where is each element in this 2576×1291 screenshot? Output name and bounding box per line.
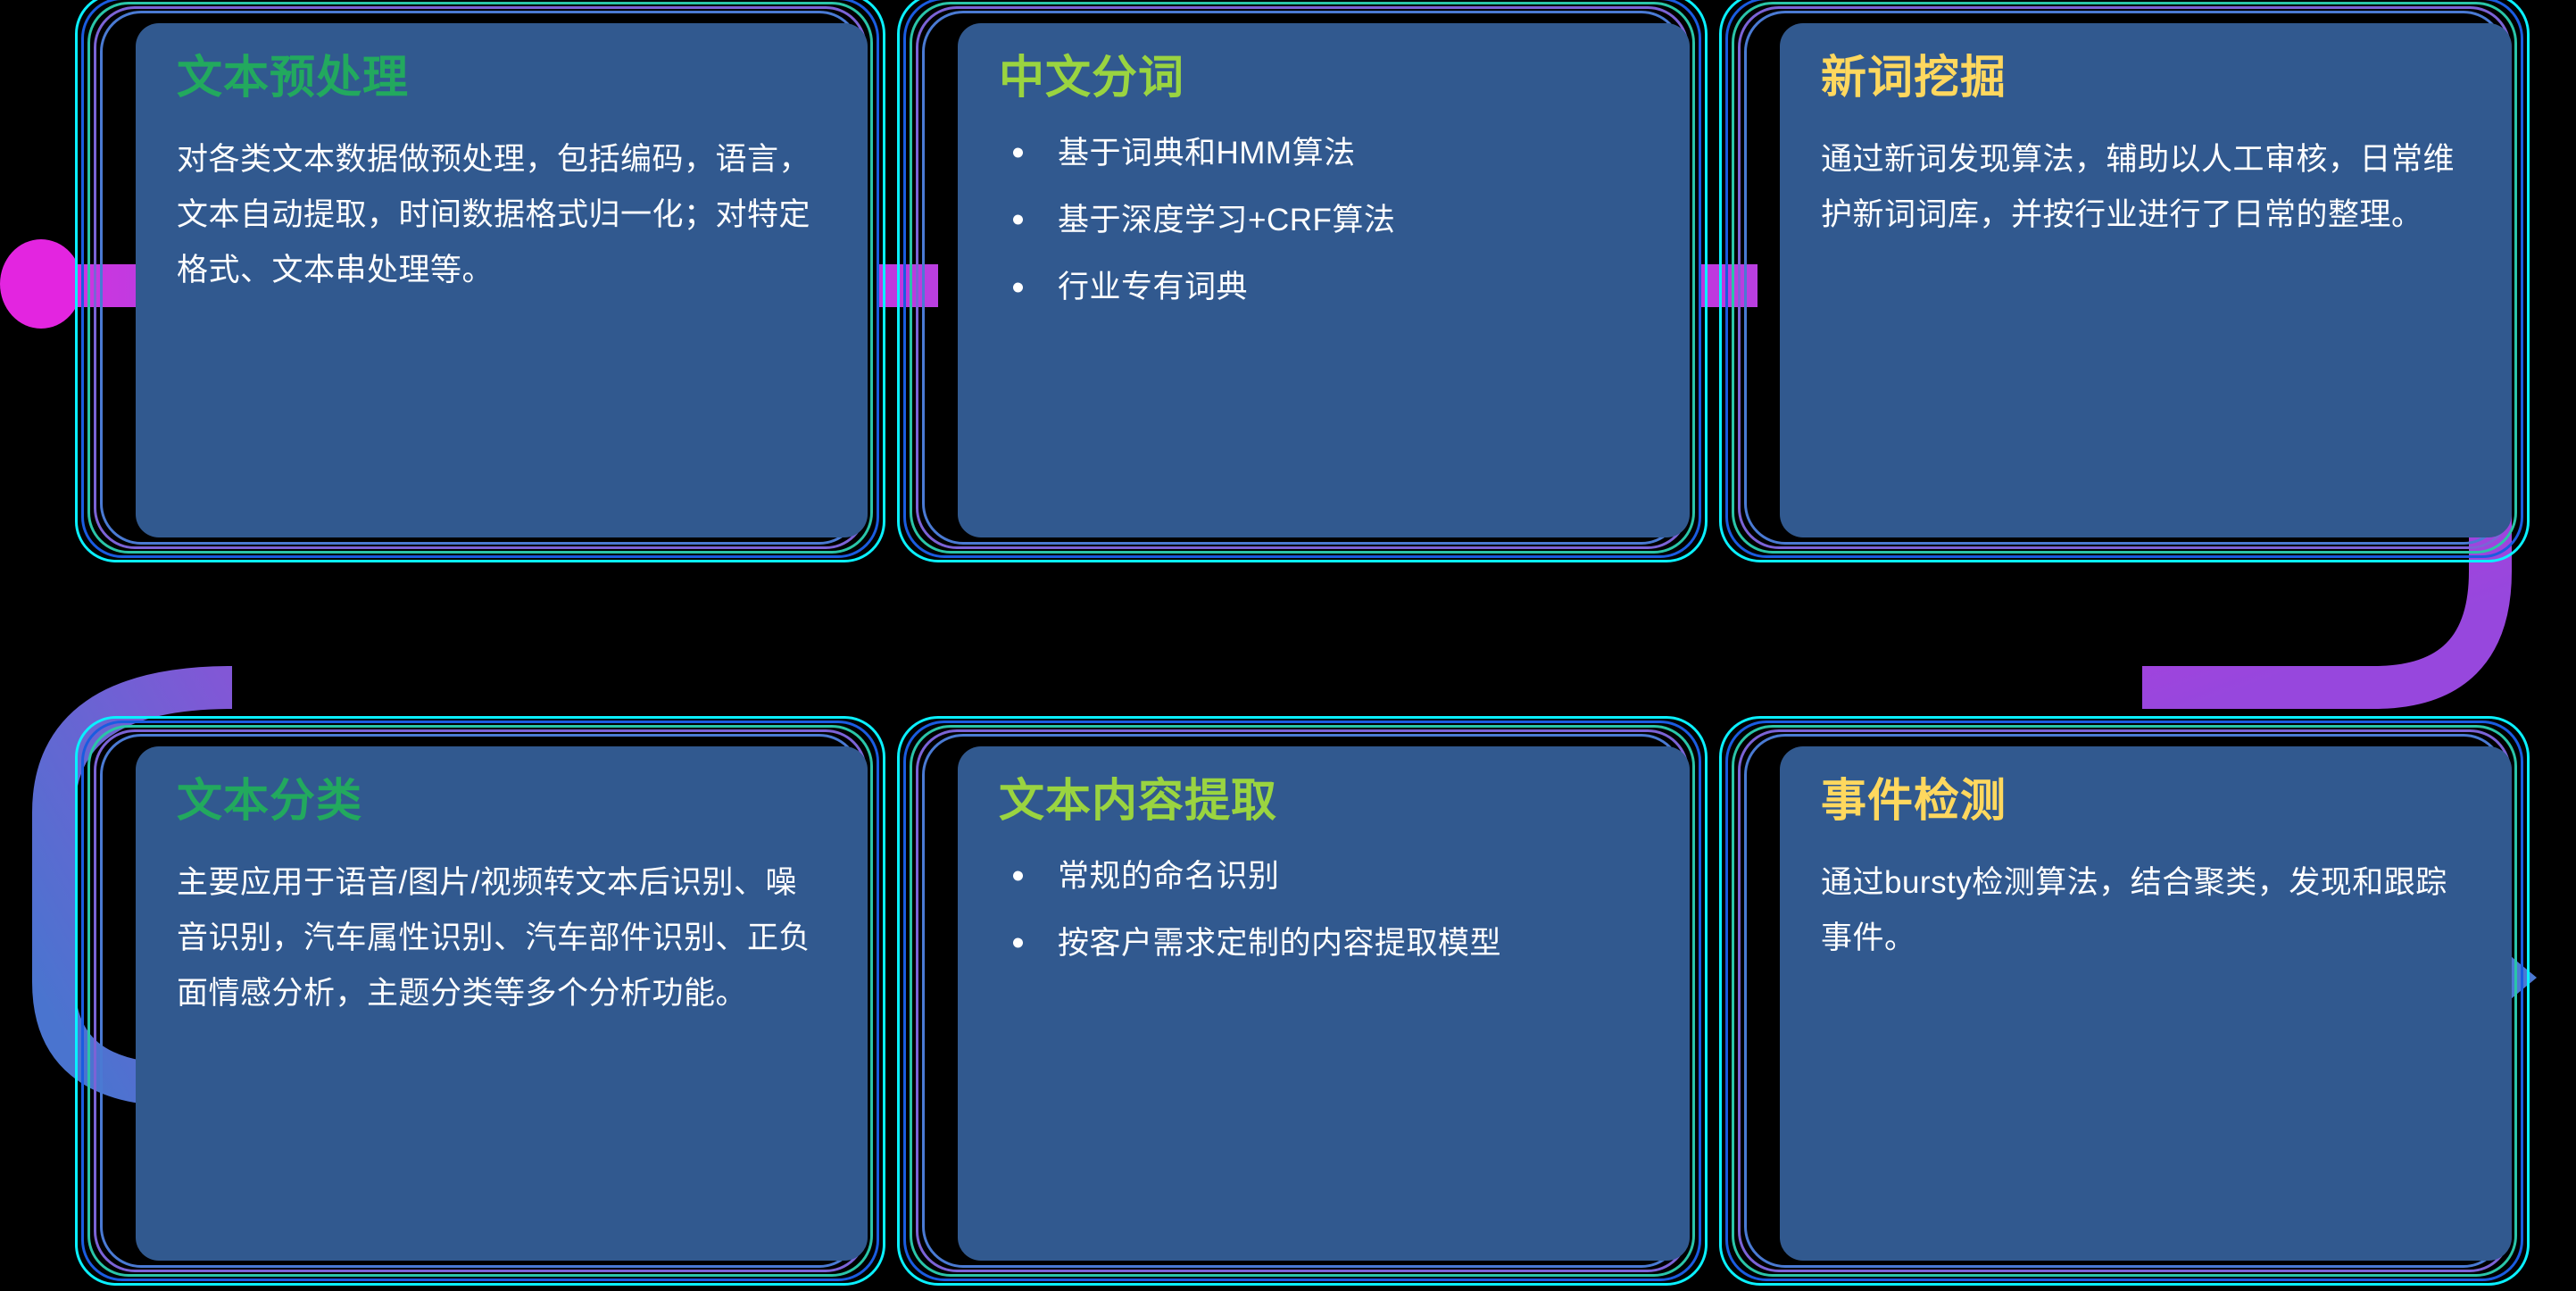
card-bullet-list: 常规的命名识别 按客户需求定制的内容提取模型 [999,855,1649,965]
card-body: 通过新词发现算法，辅助以人工审核，日常维护新词词库，并按行业进行了日常的整理。 [1821,132,2471,244]
card-title: 中文分词 [999,54,1649,102]
card-new-word-discovery[interactable]: 新词挖掘 通过新词发现算法，辅助以人工审核，日常维护新词词库，并按行业进行了日常… [1780,23,2512,537]
list-item: 行业专有词典 [999,266,1649,308]
list-item-label: 常规的命名识别 [1058,859,1280,894]
card-title: 新词挖掘 [1821,54,2471,102]
bullet-dot-icon [1013,871,1023,881]
card-title: 文本内容提取 [999,777,1649,825]
flow-start-dot [0,239,82,329]
bullet-dot-icon [1013,148,1023,158]
connector-card1-card2 [879,264,938,307]
card-chinese-word-segmentation[interactable]: 中文分词 基于词典和HMM算法 基于深度学习+CRF算法 行业专有词典 [958,23,1690,537]
card-bullet-list: 基于词典和HMM算法 基于深度学习+CRF算法 行业专有词典 [999,132,1649,309]
card-title: 文本预处理 [177,54,827,102]
card-body: 对各类文本数据做预处理，包括编码，语言，文本自动提取，时间数据格式归一化；对特定… [177,132,827,299]
bullet-dot-icon [1013,215,1023,225]
card-title: 事件检测 [1821,777,2471,825]
list-item: 常规的命名识别 [999,855,1649,897]
card-body: 主要应用于语音/图片/视频转文本后识别、噪音识别，汽车属性识别、汽车部件识别、正… [177,855,827,1022]
list-item: 基于深度学习+CRF算法 [999,199,1649,241]
list-item-label: 按客户需求定制的内容提取模型 [1058,926,1501,961]
list-item-label: 行业专有词典 [1058,270,1248,304]
card-event-detection[interactable]: 事件检测 通过bursty检测算法，结合聚类，发现和跟踪事件。 [1780,746,2512,1261]
card-body: 通过bursty检测算法，结合聚类，发现和跟踪事件。 [1821,855,2471,967]
connector-card2-card3 [1699,264,1757,307]
card-title: 文本分类 [177,777,827,825]
bullet-dot-icon [1013,938,1023,948]
card-text-preprocessing[interactable]: 文本预处理 对各类文本数据做预处理，包括编码，语言，文本自动提取，时间数据格式归… [136,23,868,537]
list-item: 基于词典和HMM算法 [999,132,1649,174]
list-item: 按客户需求定制的内容提取模型 [999,922,1649,964]
card-text-classification[interactable]: 文本分类 主要应用于语音/图片/视频转文本后识别、噪音识别，汽车属性识别、汽车部… [136,746,868,1261]
list-item-label: 基于深度学习+CRF算法 [1058,203,1395,237]
list-item-label: 基于词典和HMM算法 [1058,136,1356,171]
card-text-content-extraction[interactable]: 文本内容提取 常规的命名识别 按客户需求定制的内容提取模型 [958,746,1690,1261]
bullet-dot-icon [1013,282,1023,292]
infographic-canvas: 文本预处理 对各类文本数据做预处理，包括编码，语言，文本自动提取，时间数据格式归… [0,0,2576,1278]
